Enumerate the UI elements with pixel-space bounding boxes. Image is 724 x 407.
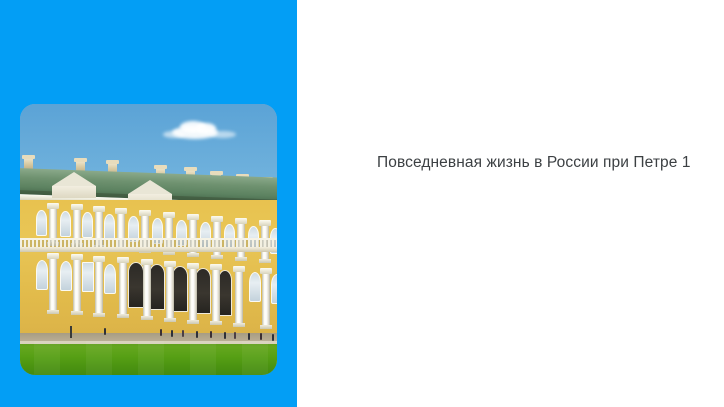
title-block: Повседневная жизнь в России при Петре 1 (377, 152, 703, 174)
column-lower (119, 262, 127, 314)
person (224, 332, 226, 339)
slide-canvas: Повседневная жизнь в России при Петре 1 (0, 0, 724, 407)
column-lower (189, 268, 197, 320)
lawn (20, 341, 277, 375)
floor-divider (20, 247, 277, 252)
person (234, 332, 236, 339)
person (210, 331, 212, 338)
lawn-stripe (190, 341, 216, 375)
lawn-stripe (138, 341, 164, 375)
pediment-left-body (52, 186, 96, 198)
window-arched (104, 214, 115, 240)
palace-photo[interactable] (20, 104, 277, 375)
window-rect-lower (82, 262, 94, 292)
lawn-stripe (86, 341, 112, 375)
person (248, 333, 250, 340)
arcade-opening (172, 266, 188, 312)
window-arched-lower (104, 264, 116, 294)
window-arched-lower (36, 260, 48, 290)
window-arched-lower (249, 272, 261, 302)
palace-building (20, 150, 277, 345)
column-lower (235, 271, 243, 323)
person (171, 330, 173, 337)
window-arched (36, 210, 47, 236)
arcade-opening (128, 262, 144, 308)
cloud-wisp-right (210, 131, 236, 138)
arcade-opening (195, 268, 211, 314)
lawn-stripe (34, 341, 60, 375)
column-lower (143, 264, 151, 316)
column-lower (73, 259, 81, 311)
column-lower (95, 261, 103, 313)
person (160, 329, 162, 336)
person (104, 328, 106, 335)
person (182, 330, 184, 337)
person (260, 333, 262, 340)
window-arched (60, 211, 71, 237)
arcade-opening (149, 264, 165, 310)
left-blue-panel (0, 0, 297, 407)
column-lower (49, 258, 57, 310)
lamp-post (70, 326, 72, 338)
lawn-stripe (242, 341, 268, 375)
column-lower (262, 273, 270, 325)
window-arched (82, 212, 93, 238)
column (49, 208, 57, 242)
person (196, 331, 198, 338)
window-arched-lower (271, 274, 277, 304)
column-lower (212, 269, 220, 321)
pediment-center (128, 180, 172, 194)
arcade-opening (218, 270, 232, 316)
slide-title[interactable]: Повседневная жизнь в России при Петре 1 (377, 152, 703, 174)
window-arched-lower (60, 261, 72, 291)
palace-photo-scene (20, 104, 277, 375)
pediment-left (52, 172, 96, 186)
person (272, 334, 274, 341)
column-lower (166, 266, 174, 318)
